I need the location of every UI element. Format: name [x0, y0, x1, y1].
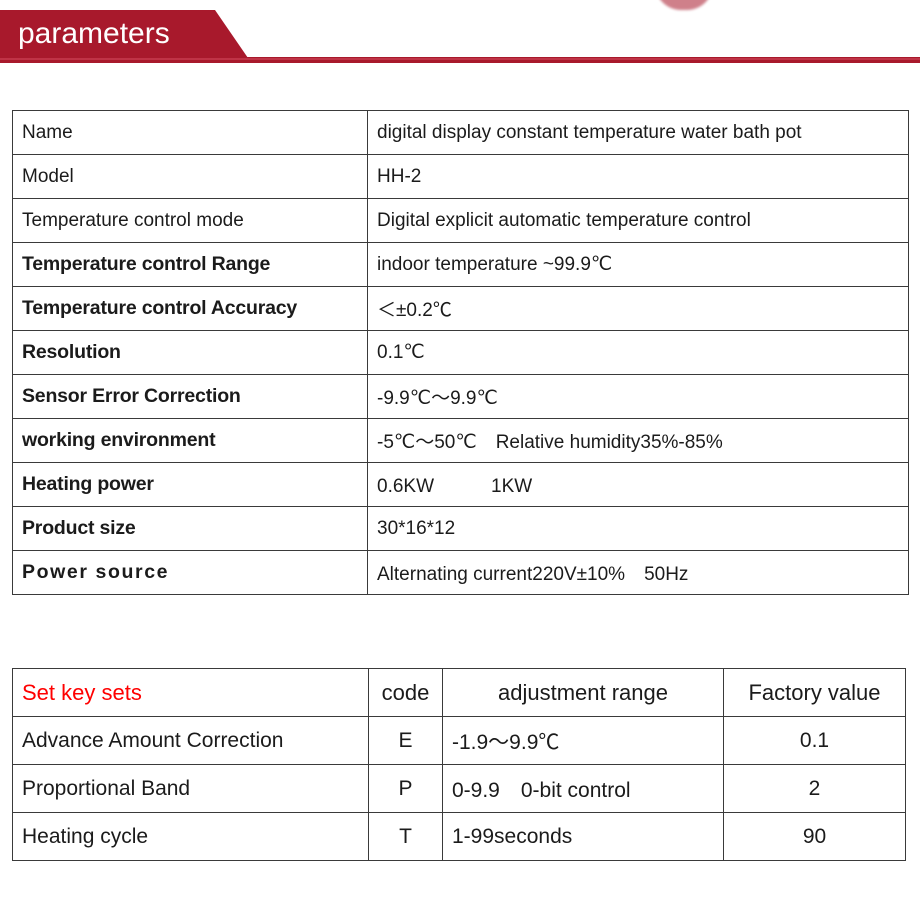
- spec-value: digital display constant temperature wat…: [368, 111, 909, 155]
- table-row: Product size 30*16*12: [13, 507, 909, 551]
- section-banner: parameters: [0, 10, 920, 62]
- spec-key: Resolution: [13, 331, 368, 375]
- specifications-table: Name digital display constant temperatur…: [12, 110, 909, 595]
- spec-key: Name: [13, 111, 368, 155]
- table-row: Advance Amount Correction E -1.9～9.9℃ 0.…: [13, 717, 906, 765]
- table-header-row: Set key sets code adjustment range Facto…: [13, 669, 906, 717]
- spec-key: Sensor Error Correction: [13, 375, 368, 419]
- spec-key: working environment: [13, 419, 368, 463]
- table-row: working environment -5℃～50℃ Relative hum…: [13, 419, 909, 463]
- spec-key: Product size: [13, 507, 368, 551]
- spec-value: -5℃～50℃ Relative humidity35%-85%: [368, 419, 909, 463]
- spec-key: Heating power: [13, 463, 368, 507]
- spec-value: Digital explicit automatic temperature c…: [368, 199, 909, 243]
- spec-key: Temperature control Accuracy: [13, 287, 368, 331]
- table-row: Power source Alternating current220V±10%…: [13, 551, 909, 595]
- key-table-title: Set key sets: [13, 669, 369, 717]
- spec-value: indoor temperature ~99.9℃: [368, 243, 909, 287]
- key-range: 1-99seconds: [443, 813, 724, 861]
- table-row: Heating cycle T 1-99seconds 90: [13, 813, 906, 861]
- key-name: Heating cycle: [13, 813, 369, 861]
- spec-key: Power source: [13, 551, 368, 595]
- table-row: Resolution 0.1℃: [13, 331, 909, 375]
- key-factory: 2: [724, 765, 906, 813]
- table-row: Temperature control mode Digital explici…: [13, 199, 909, 243]
- table-row: Temperature control Range indoor tempera…: [13, 243, 909, 287]
- spec-key: Temperature control Range: [13, 243, 368, 287]
- table-row: Heating power 0.6KW 1KW: [13, 463, 909, 507]
- key-name: Proportional Band: [13, 765, 369, 813]
- table-row: Proportional Band P 0-9.9 0-bit control …: [13, 765, 906, 813]
- page-title: parameters: [18, 13, 170, 55]
- spec-key: Model: [13, 155, 368, 199]
- parameters-page: parameters Name digital display constant…: [0, 0, 920, 911]
- spec-value: ＜±0.2℃: [368, 287, 909, 331]
- column-header-code: code: [369, 669, 443, 717]
- table-row: Sensor Error Correction -9.9℃～9.9℃: [13, 375, 909, 419]
- spec-value: -9.9℃～9.9℃: [368, 375, 909, 419]
- column-header-factory: Factory value: [724, 669, 906, 717]
- key-factory: 0.1: [724, 717, 906, 765]
- spec-value: Alternating current220V±10% 50Hz: [368, 551, 909, 595]
- key-code: P: [369, 765, 443, 813]
- spec-key: Temperature control mode: [13, 199, 368, 243]
- set-key-sets-table: Set key sets code adjustment range Facto…: [12, 668, 906, 861]
- spec-value: 0.6KW 1KW: [368, 463, 909, 507]
- spec-value: HH-2: [368, 155, 909, 199]
- column-header-range: adjustment range: [443, 669, 724, 717]
- key-name: Advance Amount Correction: [13, 717, 369, 765]
- key-range: 0-9.9 0-bit control: [443, 765, 724, 813]
- banner-divider-highlight: [0, 58, 920, 60]
- key-code: E: [369, 717, 443, 765]
- key-factory: 90: [724, 813, 906, 861]
- key-range: -1.9～9.9℃: [443, 717, 724, 765]
- spec-value: 0.1℃: [368, 331, 909, 375]
- decorative-arc: [655, 0, 713, 10]
- table-row: Temperature control Accuracy ＜±0.2℃: [13, 287, 909, 331]
- table-row: Model HH-2: [13, 155, 909, 199]
- table-row: Name digital display constant temperatur…: [13, 111, 909, 155]
- spec-value: 30*16*12: [368, 507, 909, 551]
- key-code: T: [369, 813, 443, 861]
